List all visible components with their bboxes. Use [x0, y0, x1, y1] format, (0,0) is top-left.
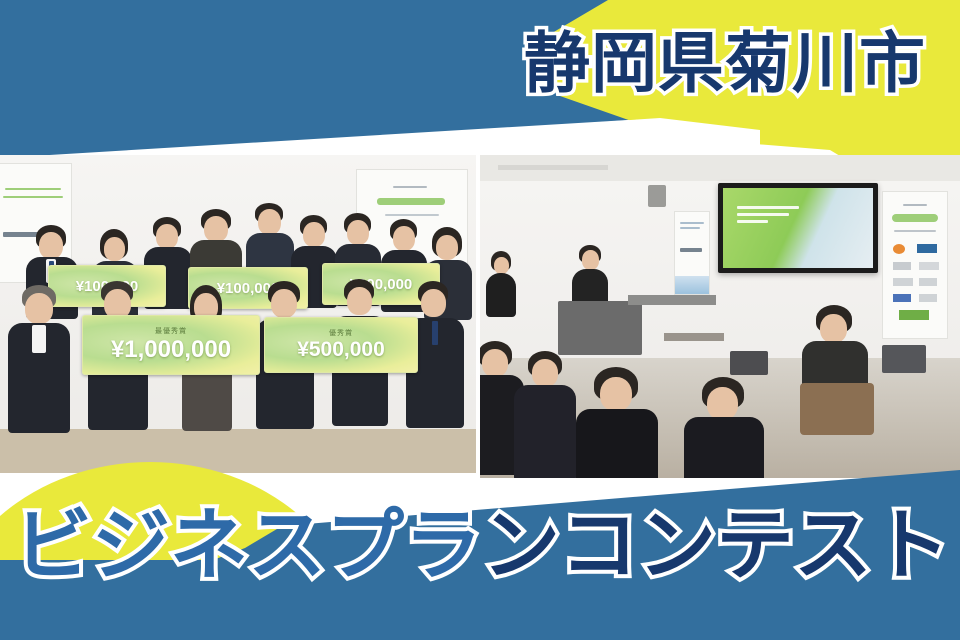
- laptop: [882, 345, 926, 373]
- headline-contest: ビジネスプランコンテスト: [14, 506, 950, 584]
- left-roll-banner: [674, 211, 710, 295]
- headline-contest-part1: ビジネスプラ: [14, 501, 482, 589]
- check-amount: ¥500,000: [297, 338, 385, 362]
- slide-title: [737, 206, 805, 227]
- event-banner: ¥100,000 ¥100,000 ¥100,000: [0, 0, 960, 640]
- ceiling-speaker: [648, 185, 666, 207]
- check-label: 最優秀賞: [155, 326, 187, 336]
- front-table: [628, 295, 716, 305]
- presentation-room-photo: [478, 155, 960, 478]
- prize-check-first: 最優秀賞 ¥1,000,000: [82, 315, 260, 375]
- slide-content: [723, 188, 873, 268]
- photo-strip: ¥100,000 ¥100,000 ¥100,000: [0, 155, 960, 478]
- award-ceremony-photo: ¥100,000 ¥100,000 ¥100,000: [0, 155, 478, 473]
- audience-table: [664, 333, 724, 341]
- headline-contest-part2: ンコンテスト: [482, 501, 950, 589]
- sponsor-roll-banner: [882, 191, 948, 339]
- laptop: [730, 351, 768, 375]
- chair: [800, 383, 874, 435]
- headline-city: 静岡県菊川市: [524, 30, 926, 96]
- podium: [558, 301, 642, 355]
- photo-divider: [476, 155, 480, 478]
- prize-check-second: 優秀賞 ¥500,000: [264, 317, 418, 373]
- check-label: 優秀賞: [329, 328, 353, 338]
- projector-screen: [718, 183, 878, 273]
- ceiling-light: [498, 165, 608, 170]
- check-amount: ¥1,000,000: [111, 336, 231, 364]
- room-floor: [0, 429, 478, 473]
